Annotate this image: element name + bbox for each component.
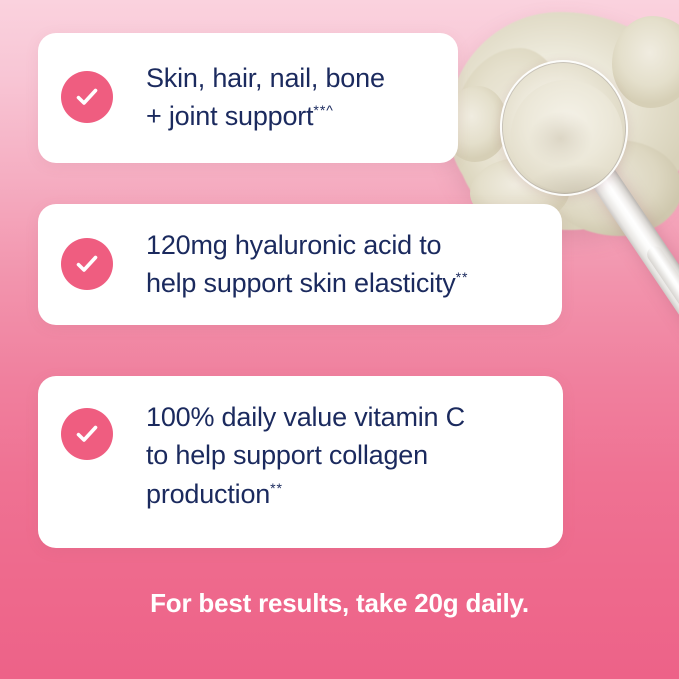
check-icon	[61, 408, 113, 460]
check-icon	[61, 71, 113, 123]
benefit-1-label: Skin, hair, nail, bone + joint support	[146, 63, 385, 131]
benefit-card-3-text: 100% daily value vitamin C to help suppo…	[146, 398, 465, 513]
benefit-card-1: Skin, hair, nail, bone + joint support**…	[38, 33, 458, 163]
product-benefits-graphic: TBSP Skin, hair, nail, bone + joint supp…	[0, 0, 679, 679]
benefit-card-2-text: 120mg hyaluronic acid to help support sk…	[146, 226, 468, 303]
spoon-handle-taper	[644, 243, 679, 418]
footer-usage-note: For best results, take 20g daily.	[0, 588, 679, 619]
benefit-card-2: 120mg hyaluronic acid to help support sk…	[38, 204, 562, 325]
benefit-1-footnote: **^	[313, 102, 334, 118]
benefit-3-footnote: **	[270, 480, 283, 496]
check-icon	[61, 238, 113, 290]
benefit-card-1-text: Skin, hair, nail, bone + joint support**…	[146, 59, 385, 136]
benefit-3-label: 100% daily value vitamin C to help suppo…	[146, 402, 465, 509]
benefit-2-footnote: **	[456, 269, 469, 285]
benefit-card-3: 100% daily value vitamin C to help suppo…	[38, 376, 563, 548]
benefit-2-label: 120mg hyaluronic acid to help support sk…	[146, 230, 456, 298]
